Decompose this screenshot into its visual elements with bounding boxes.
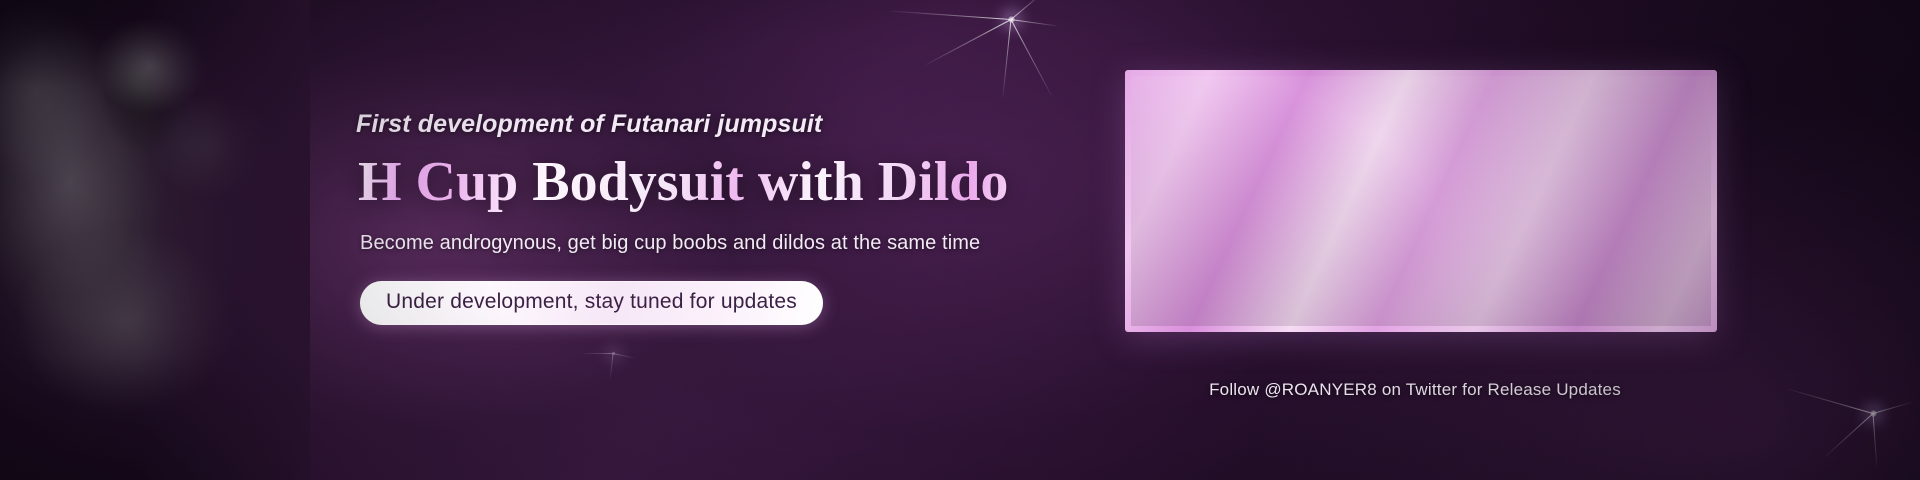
star-ray — [1011, 19, 1052, 95]
sparkle-star-bottom-right — [1872, 412, 1874, 414]
star-ray — [926, 19, 1011, 65]
star-ray — [891, 11, 1011, 20]
star-ray — [1873, 402, 1912, 414]
left-model-photo — [0, 0, 310, 480]
photo-tone-overlay — [1131, 76, 1711, 326]
headline-block: First development of Futanari jumpsuit H… — [348, 110, 1048, 325]
product-photo-image — [1131, 76, 1711, 326]
star-core-icon — [1007, 15, 1016, 24]
sparkle-star-small-left — [612, 352, 614, 354]
star-ray — [583, 353, 613, 354]
page-title: H Cup Bodysuit with Dildo — [358, 153, 1048, 212]
star-ray — [1011, 0, 1042, 20]
star-ray — [1788, 389, 1873, 414]
star-ray — [1873, 413, 1878, 467]
subtitle-text: Become androgynous, get big cup boobs an… — [360, 232, 1048, 255]
star-ray — [1011, 19, 1057, 26]
star-ray — [1002, 19, 1011, 97]
photo-caption: Follow @ROANYER8 on Twitter for Release … — [1125, 380, 1705, 400]
sparkle-star-top — [1010, 18, 1012, 20]
eyebrow-text: First development of Futanari jumpsuit — [356, 110, 1048, 139]
left-photo-fade-overlay — [0, 0, 310, 480]
star-ray — [613, 353, 635, 359]
star-core-icon — [1869, 409, 1878, 418]
status-badge[interactable]: Under development, stay tuned for update… — [360, 281, 823, 325]
star-core-icon — [611, 351, 616, 356]
promo-banner: First development of Futanari jumpsuit H… — [0, 0, 1920, 480]
product-photo-card — [1125, 70, 1717, 332]
star-ray — [1825, 413, 1873, 457]
star-ray — [610, 353, 614, 379]
